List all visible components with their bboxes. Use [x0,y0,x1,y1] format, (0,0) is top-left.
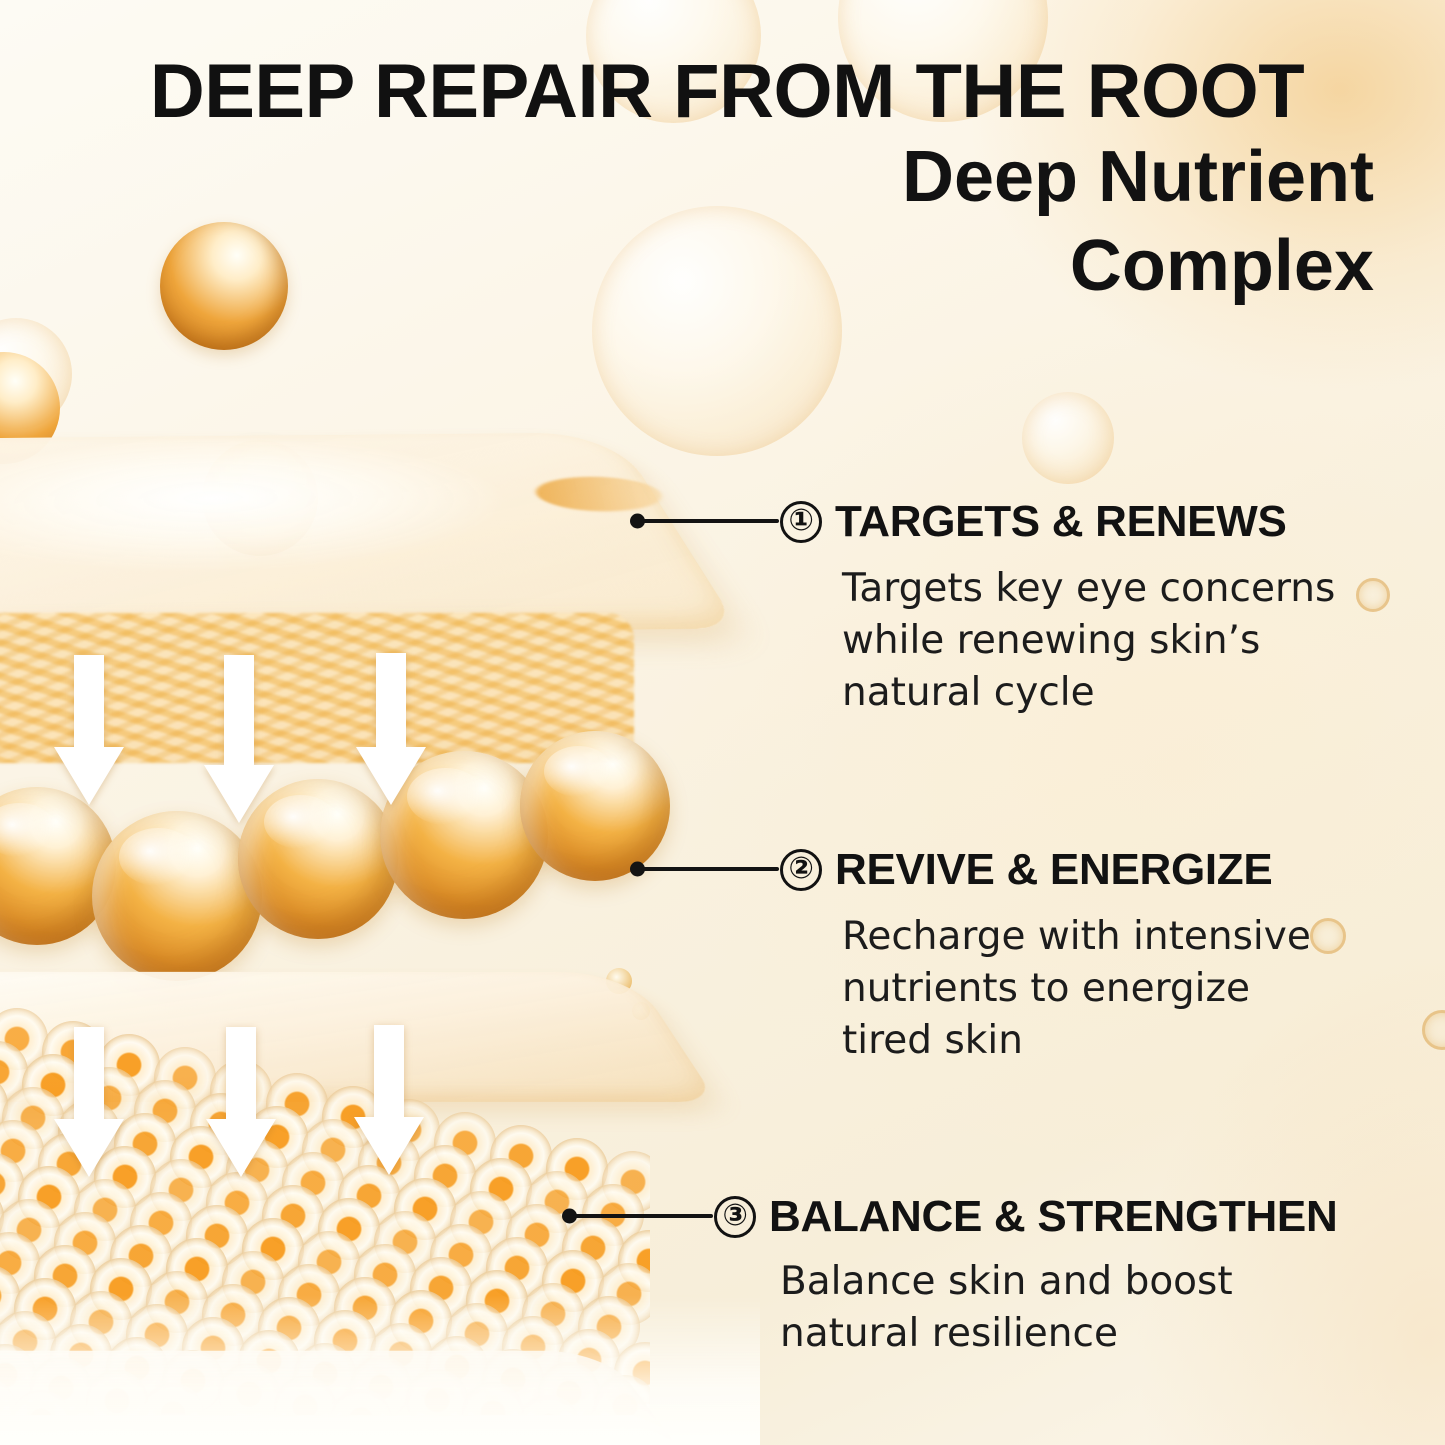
callout-1-body: Targets key eye concerns while renewing … [842,563,1362,719]
penetration-arrow-icon [352,653,430,805]
product-infographic-poster: DEEP REPAIR FROM THE ROOT Deep Nutrient … [0,0,1445,1445]
callout-3-leader-line [562,1206,714,1226]
callout-3-number: ③ [714,1196,756,1238]
nutrient-capsule [92,811,262,981]
leader-bar [573,1214,713,1218]
callout-2-number: ② [780,849,822,891]
callout-3-title: BALANCE & STRENGTHEN [769,1192,1337,1242]
leader-bar [641,519,779,523]
callout-1-heading: ① TARGETS & RENEWS [780,497,1410,547]
callout-3-body: Balance skin and boost natural resilienc… [780,1256,1250,1360]
penetration-arrow-icon [200,655,278,823]
penetration-arrow-icon [50,1027,128,1177]
penetration-arrow-icon [202,1027,280,1177]
callout-1-title: TARGETS & RENEWS [835,497,1287,547]
background-bubble-decor [1022,392,1114,484]
headline-primary: DEEP REPAIR FROM THE ROOT [72,55,1382,129]
callout-2-heading: ② REVIVE & ENERGIZE [780,845,1410,895]
callout-2-title: REVIVE & ENERGIZE [835,845,1272,895]
top-gel-layer [0,432,739,639]
headline-secondary-line-1: Deep Nutrient [72,137,1382,218]
callout-2: ② REVIVE & ENERGIZE Recharge with intens… [630,845,1410,1067]
callout-1: ① TARGETS & RENEWS Targets key eye conce… [630,497,1410,719]
headline-secondary-line-2: Complex [72,226,1382,307]
leader-bar [641,867,779,871]
headline-block: DEEP REPAIR FROM THE ROOT Deep Nutrient … [72,55,1382,307]
callout-1-leader-line [630,511,780,531]
penetration-arrow-icon [350,1025,428,1175]
callout-3: ③ BALANCE & STRENGTHEN Balance skin and … [562,1192,1422,1360]
callout-3-heading: ③ BALANCE & STRENGTHEN [714,1192,1422,1242]
callout-1-number: ① [780,501,822,543]
callout-2-body: Recharge with intensive nutrients to ene… [842,911,1342,1067]
background-bubble-ring-decor [1422,1010,1445,1050]
penetration-arrow-icon [50,655,128,805]
callout-2-leader-line [630,859,780,879]
